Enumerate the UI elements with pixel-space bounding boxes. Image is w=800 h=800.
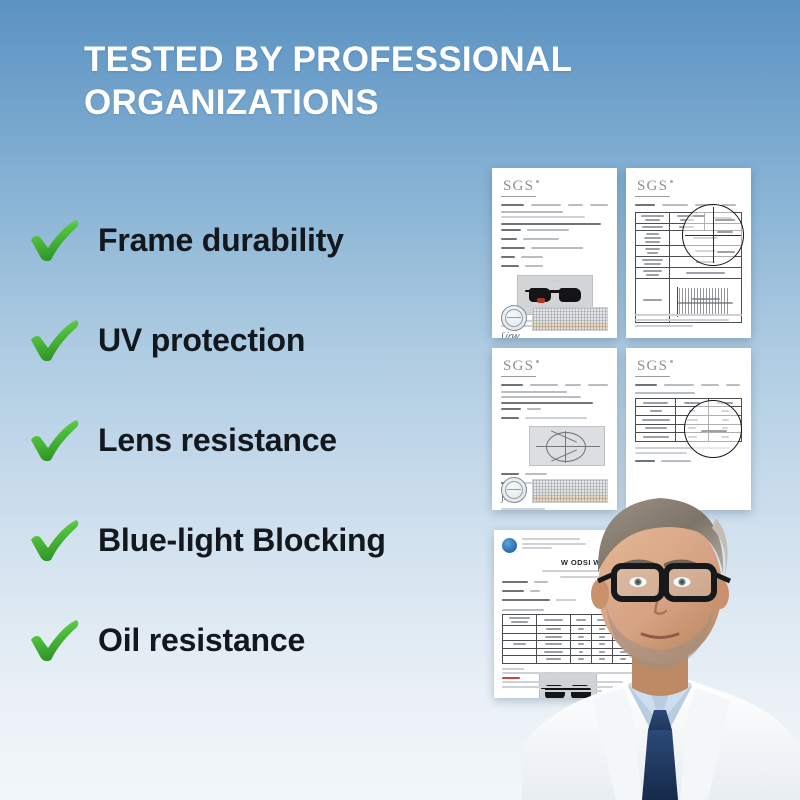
- poster-root: TESTED BY PROFESSIONAL ORGANIZATIONS Fra…: [0, 0, 800, 800]
- document-security-footer: [501, 305, 608, 331]
- document-header-row: [501, 384, 608, 386]
- check-icon: [26, 314, 84, 366]
- official-seal: [501, 305, 527, 331]
- list-item: Oil resistance: [26, 590, 496, 690]
- check-icon: [26, 214, 84, 266]
- list-item: Frame durability: [26, 190, 496, 290]
- check-icon: [26, 514, 84, 566]
- list-item: Blue-light Blocking: [26, 490, 496, 590]
- certificate-document[interactable]: SGS: [626, 168, 751, 338]
- sgs-logo: SGS: [635, 179, 670, 197]
- document-header-row: [635, 384, 742, 386]
- page-title: TESTED BY PROFESSIONAL ORGANIZATIONS: [84, 38, 684, 124]
- list-item-label: Blue-light Blocking: [98, 522, 386, 559]
- document-header-row: [501, 204, 608, 206]
- document-text-block: [501, 211, 608, 226]
- document-footnote: [635, 314, 742, 331]
- check-icon: [26, 414, 84, 466]
- list-item-label: UV protection: [98, 322, 305, 359]
- sgs-logo: SGS: [501, 359, 536, 377]
- document-header-row: [635, 204, 742, 206]
- security-strip: [532, 307, 608, 331]
- document-field-list: [501, 408, 608, 423]
- signature: ∫𝑖𝑟𝑤: [501, 331, 608, 338]
- list-item-label: Frame durability: [98, 222, 344, 259]
- feature-checklist: Frame durability UV protection Lens resi…: [26, 190, 496, 690]
- document-text-block: [501, 391, 608, 405]
- list-item: Lens resistance: [26, 390, 496, 490]
- institution-logo-icon: [502, 538, 517, 553]
- table-row: [636, 267, 742, 278]
- list-item-label: Lens resistance: [98, 422, 337, 459]
- list-item-label: Oil resistance: [98, 622, 305, 659]
- list-item: UV protection: [26, 290, 496, 390]
- sgs-logo: SGS: [635, 359, 670, 377]
- document-field-list: [501, 229, 608, 271]
- sgs-logo: SGS: [501, 179, 536, 197]
- circle-diagram: [682, 204, 744, 266]
- table-caption: [635, 392, 695, 394]
- certificate-document[interactable]: SGS: [492, 168, 617, 338]
- specialist-portrait: [520, 448, 800, 800]
- check-icon: [26, 614, 84, 666]
- eyeglasses-icon: [598, 566, 730, 599]
